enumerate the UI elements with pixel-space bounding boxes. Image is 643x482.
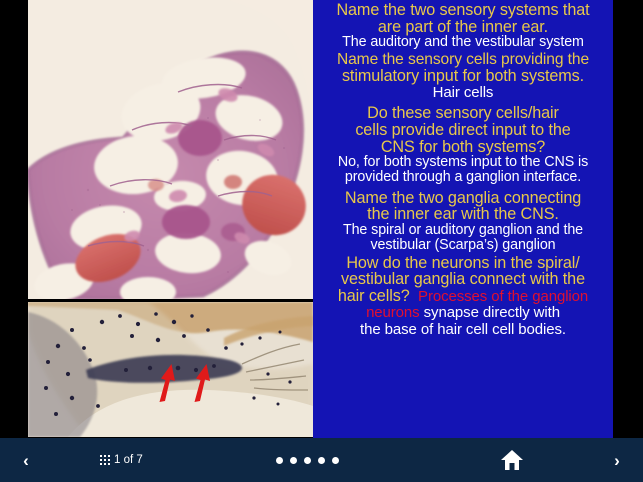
question-line: the inner ear with the CNS. xyxy=(317,206,609,223)
answer-line: The auditory and the vestibular system xyxy=(317,35,609,50)
question-line: are part of the inner ear. xyxy=(317,19,609,36)
chevron-left-icon: ‹ xyxy=(23,452,29,469)
question-line: cells provide direct input to the xyxy=(317,122,609,139)
question-line: stimulatory input for both systems. xyxy=(317,68,609,85)
page-dot[interactable] xyxy=(290,457,297,464)
answer-line: provided through a ganglion interface. xyxy=(317,170,609,185)
forward-button[interactable]: › xyxy=(601,438,633,482)
image-column xyxy=(28,0,313,438)
highlight-segment-part2: neurons xyxy=(366,304,420,321)
answer-line: The spiral or auditory ganglion and the xyxy=(317,223,609,238)
question-answer-panel: Name the two sensory systems that are pa… xyxy=(313,0,613,438)
bottom-toolbar: ‹ 1 of 7 › xyxy=(0,438,643,482)
highlight-segment-part1: Processes of the ganglion xyxy=(414,288,588,305)
answer-line: the base of hair cell cell bodies. xyxy=(317,322,609,337)
answer-segment: synapse directly with xyxy=(420,304,560,321)
question-line: Name the sensory cells providing the xyxy=(317,52,609,68)
page-dot[interactable] xyxy=(332,457,339,464)
slide-content: Name the two sensory systems that are pa… xyxy=(0,0,643,438)
page-dots[interactable] xyxy=(276,438,339,482)
spiral-ganglion-graphic xyxy=(28,302,313,437)
question-line: How do the neurons in the spiral/ xyxy=(317,255,609,272)
question-line: Do these sensory cells/hair xyxy=(317,105,609,122)
spiral-ganglion-histology xyxy=(28,302,313,437)
slide-viewer-app: Name the two sensory systems that are pa… xyxy=(0,0,643,482)
grid-icon xyxy=(100,455,110,465)
question-line: vestibular ganglia connect with the xyxy=(317,271,609,288)
page-indicator[interactable]: 1 of 7 xyxy=(100,438,143,482)
mixed-answer-line-2: neurons synapse directly with xyxy=(317,305,609,321)
chevron-right-icon: › xyxy=(614,452,620,469)
page-dot[interactable] xyxy=(276,457,283,464)
answer-line: No, for both systems input to the CNS is xyxy=(317,155,609,170)
cochlea-cross-section-histology xyxy=(28,0,313,299)
mixed-answer-line-1: hair cells? Processes of the ganglion xyxy=(317,288,609,305)
answer-line: vestibular (Scarpa’s) ganglion xyxy=(317,238,609,253)
cochlea-histology-graphic xyxy=(28,0,313,299)
question-line: CNS for both systems? xyxy=(317,139,609,156)
back-button[interactable]: ‹ xyxy=(10,438,42,482)
page-dot[interactable] xyxy=(318,457,325,464)
answer-line: Hair cells xyxy=(317,85,609,100)
page-dot[interactable] xyxy=(304,457,311,464)
question-line: Name the two ganglia connecting xyxy=(317,190,609,207)
home-button[interactable] xyxy=(494,438,530,482)
question-tail: hair cells? xyxy=(338,287,410,305)
page-indicator-label: 1 of 7 xyxy=(114,454,143,466)
question-line: Name the two sensory systems that xyxy=(317,2,609,19)
home-icon xyxy=(500,449,524,471)
